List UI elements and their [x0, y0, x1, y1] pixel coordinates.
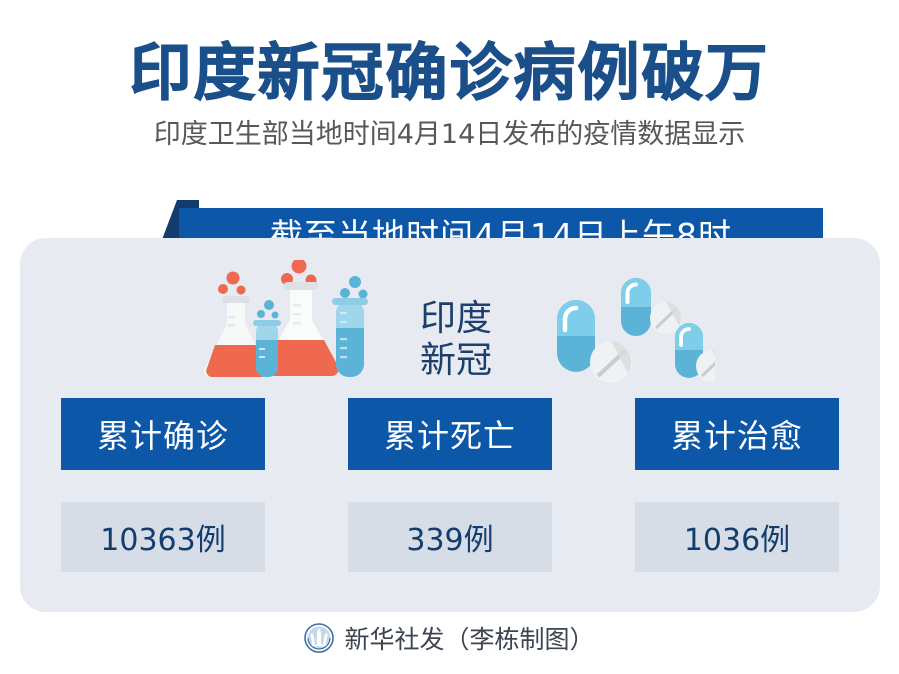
- india-covid-label: 印度 新冠: [406, 298, 506, 382]
- stat-column-confirmed: 累计确诊 10363例: [61, 398, 265, 572]
- india-label-line2: 新冠: [406, 340, 506, 382]
- capsules-tablets-icon: [515, 278, 715, 393]
- page-subtitle: 印度卫生部当地时间4月14日发布的疫情数据显示: [0, 105, 899, 151]
- footer-credit: 新华社发（李栋制图）: [0, 620, 899, 656]
- stat-value-confirmed: 10363例: [61, 502, 265, 572]
- stat-column-deaths: 累计死亡 339例: [348, 398, 552, 572]
- india-label-line1: 印度: [406, 298, 506, 340]
- header: 印度新冠确诊病例破万 印度卫生部当地时间4月14日发布的疫情数据显示: [0, 0, 899, 151]
- stats-row: 累计确诊 10363例 累计死亡 339例 累计治愈 1036例: [20, 398, 880, 598]
- stat-label-deaths: 累计死亡: [348, 398, 552, 470]
- illustration-row: 印度 新冠: [20, 260, 880, 400]
- xinhua-logo-icon: [304, 623, 334, 653]
- stat-column-recovered: 累计治愈 1036例: [635, 398, 839, 572]
- stat-label-confirmed: 累计确诊: [61, 398, 265, 470]
- page-title: 印度新冠确诊病例破万: [0, 0, 899, 105]
- flasks-test-tubes-icon: [195, 260, 395, 390]
- stat-label-recovered: 累计治愈: [635, 398, 839, 470]
- stat-value-recovered: 1036例: [635, 502, 839, 572]
- stat-value-deaths: 339例: [348, 502, 552, 572]
- stats-panel: 印度 新冠: [20, 238, 880, 612]
- footer-credit-text: 新华社发（李栋制图）: [344, 620, 594, 656]
